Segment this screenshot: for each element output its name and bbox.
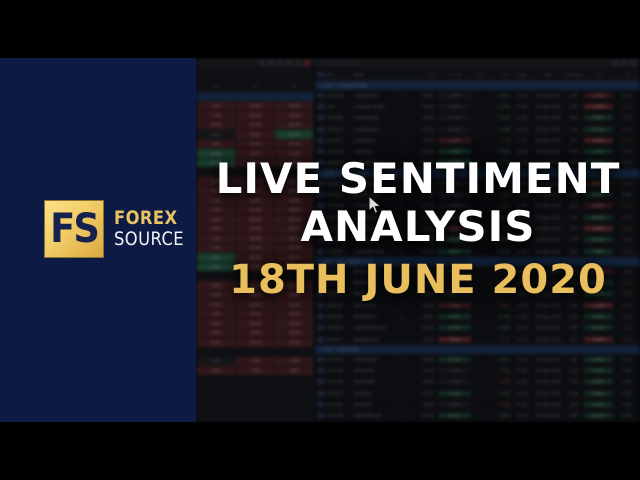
letterbox-top [0,0,640,58]
logo-word-source: SOURCE [114,230,184,249]
headline-block: LIVE SENTIMENT ANALYSIS 18TH JUNE 2020 [196,160,640,303]
video-thumbnail: 1H 4H 1D -3.1%-18.5%-54.6%-1.7%-22.4%-21… [0,0,640,480]
logo-wordmark: FOREX SOURCE [114,209,195,249]
headline-line-1: LIVE SENTIMENT [196,160,640,199]
forex-source-logo: FS FOREX SOURCE [44,200,195,258]
headline-line-2: ANALYSIS [196,208,640,247]
logo-word-forex: FOREX [114,209,184,228]
logo-mark-text: FS [50,209,98,249]
letterbox-bottom [0,422,640,480]
logo-mark-box: FS [44,200,104,258]
headline-date: 18TH JUNE 2020 [196,257,640,303]
